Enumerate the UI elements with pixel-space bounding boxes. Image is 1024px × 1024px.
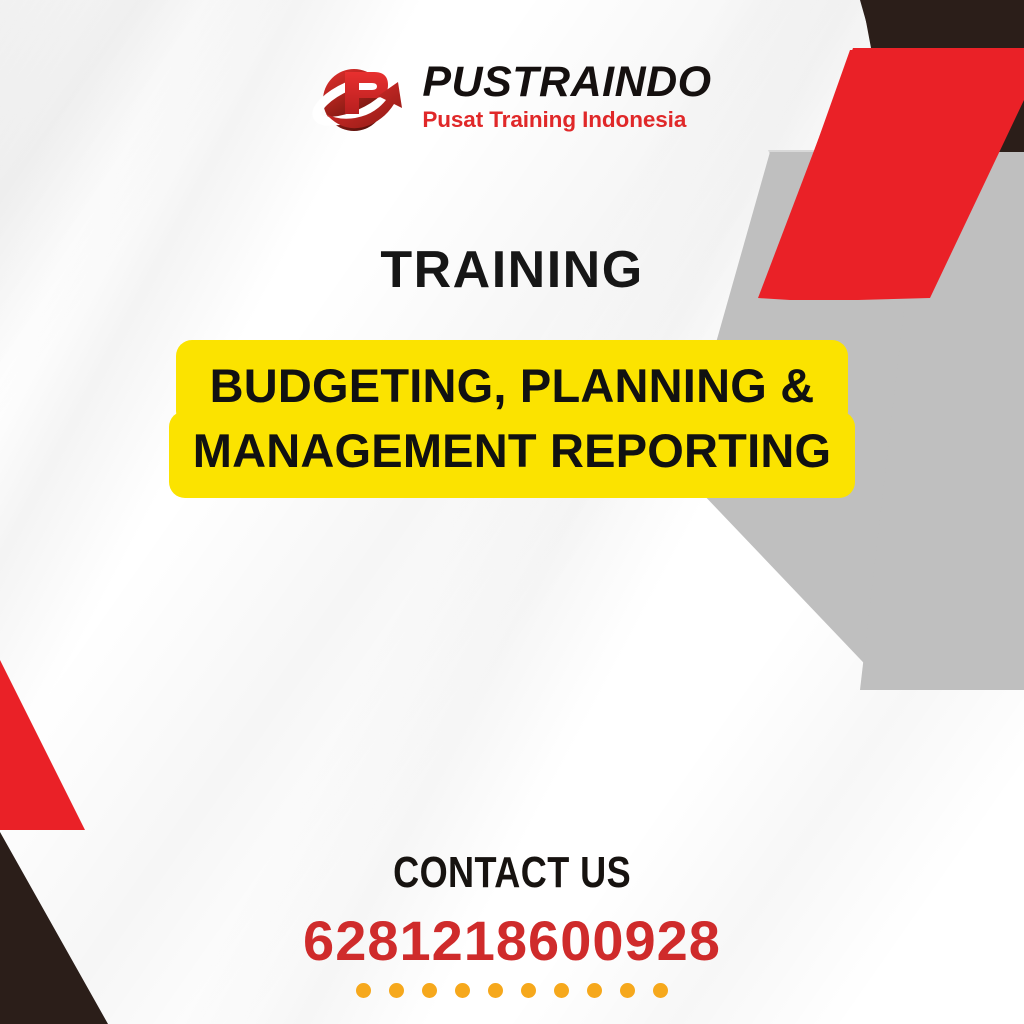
decorative-dot: [422, 983, 437, 998]
brand-tagline: Pusat Training Indonesia: [422, 109, 686, 132]
pustraindo-globe-p-icon: [312, 52, 408, 140]
decorative-dot: [389, 983, 404, 998]
contact-block: CONTACT US 6281218600928: [0, 848, 1024, 998]
eyebrow-heading: TRAINING: [0, 240, 1024, 300]
contact-label-wrap: CONTACT US: [0, 848, 1024, 898]
brand-name: PUSTRAINDO: [422, 61, 711, 104]
decorative-dot: [356, 983, 371, 998]
decorative-dot: [554, 983, 569, 998]
decorative-dot: [653, 983, 668, 998]
title-highlight-block: BUDGETING, PLANNING & MANAGEMENT REPORTI…: [0, 340, 1024, 498]
decorative-dot: [455, 983, 470, 998]
brand-wordmark: PUSTRAINDO Pusat Training Indonesia: [422, 61, 711, 132]
decorative-dot-row: [0, 983, 1024, 998]
poster-content: PUSTRAINDO Pusat Training Indonesia TRAI…: [0, 0, 1024, 1024]
decorative-dot: [587, 983, 602, 998]
decorative-dot: [488, 983, 503, 998]
title-line-1: BUDGETING, PLANNING &: [176, 340, 849, 427]
decorative-dot: [521, 983, 536, 998]
contact-label: CONTACT US: [393, 848, 631, 898]
brand-logo-lockup: PUSTRAINDO Pusat Training Indonesia: [0, 52, 1024, 140]
poster-canvas: PUSTRAINDO Pusat Training Indonesia TRAI…: [0, 0, 1024, 1024]
decorative-dot: [620, 983, 635, 998]
contact-phone-number[interactable]: 6281218600928: [0, 908, 1024, 973]
